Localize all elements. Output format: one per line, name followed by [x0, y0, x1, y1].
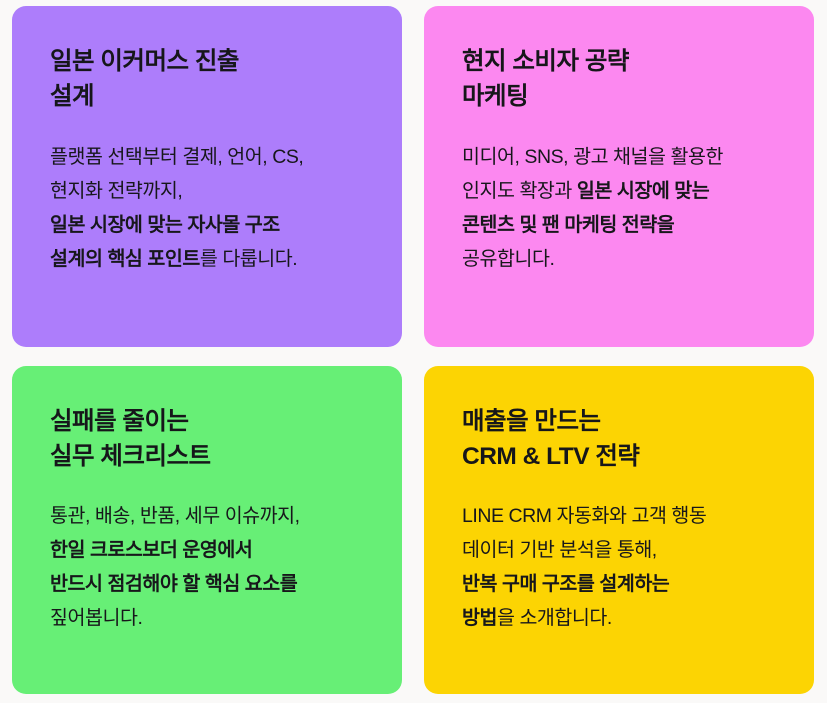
card-body-line: 설계의 핵심 포인트를 다룹니다.: [50, 242, 368, 276]
card-body-line: 인지도 확장과 일본 시장에 맞는: [462, 174, 780, 208]
card-title: 매출을 만드는 CRM & LTV 전략: [462, 404, 780, 474]
card-body-line: 일본 시장에 맞는 자사몰 구조: [50, 208, 368, 242]
card-title: 현지 소비자 공략 마케팅: [462, 44, 780, 114]
card-body-line: 통관, 배송, 반품, 세무 이슈까지,: [50, 499, 368, 533]
card-body: LINE CRM 자동화와 고객 행동데이터 기반 분석을 통해,반복 구매 구…: [462, 499, 780, 635]
card-body: 통관, 배송, 반품, 세무 이슈까지,한일 크로스보더 운영에서반드시 점검해…: [50, 499, 368, 635]
emphasis-text: 방법: [462, 607, 497, 629]
body-text: 짚어봅니다.: [50, 607, 142, 629]
card-body-line: 플랫폼 선택부터 결제, 언어, CS,: [50, 140, 368, 174]
card-body-line: 한일 크로스보더 운영에서: [50, 533, 368, 567]
card-body-line: LINE CRM 자동화와 고객 행동: [462, 499, 780, 533]
body-text: 공유합니다.: [462, 248, 554, 270]
card-body: 플랫폼 선택부터 결제, 언어, CS,현지화 전략까지,일본 시장에 맞는 자…: [50, 140, 368, 276]
body-text: 을 소개합니다.: [497, 607, 612, 629]
card-title: 일본 이커머스 진출 설계: [50, 44, 368, 114]
card-body-line: 현지화 전략까지,: [50, 174, 368, 208]
card-body-line: 반복 구매 구조를 설계하는: [462, 567, 780, 601]
body-text: 인지도 확장과: [462, 180, 577, 202]
body-text: 데이터 기반 분석을 통해,: [462, 539, 657, 561]
card-body-line: 데이터 기반 분석을 통해,: [462, 533, 780, 567]
emphasis-text: 한일 크로스보더 운영에서: [50, 539, 252, 561]
body-text: 플랫폼 선택부터 결제, 언어, CS,: [50, 146, 303, 168]
emphasis-text: 일본 시장에 맞는 자사몰 구조: [50, 214, 280, 236]
card-body-line: 방법을 소개합니다.: [462, 601, 780, 635]
feature-card-japan-ecommerce-entry-design[interactable]: 일본 이커머스 진출 설계 플랫폼 선택부터 결제, 언어, CS,현지화 전략…: [12, 6, 402, 347]
body-text: 미디어, SNS, 광고 채널을 활용한: [462, 146, 723, 168]
feature-card-grid: 일본 이커머스 진출 설계 플랫폼 선택부터 결제, 언어, CS,현지화 전략…: [0, 0, 827, 703]
feature-card-local-consumer-marketing[interactable]: 현지 소비자 공략 마케팅 미디어, SNS, 광고 채널을 활용한인지도 확장…: [424, 6, 814, 347]
emphasis-text: 반드시 점검해야 할 핵심 요소를: [50, 573, 297, 595]
emphasis-text: 콘텐츠 및 팬 마케팅 전략을: [462, 214, 674, 236]
emphasis-text: 반복 구매 구조를 설계하는: [462, 573, 669, 595]
body-text: 현지화 전략까지,: [50, 180, 182, 202]
card-body-line: 공유합니다.: [462, 242, 780, 276]
card-body-line: 콘텐츠 및 팬 마케팅 전략을: [462, 208, 780, 242]
card-body-line: 미디어, SNS, 광고 채널을 활용한: [462, 140, 780, 174]
card-body-line: 반드시 점검해야 할 핵심 요소를: [50, 567, 368, 601]
feature-card-crm-ltv-strategy[interactable]: 매출을 만드는 CRM & LTV 전략 LINE CRM 자동화와 고객 행동…: [424, 366, 814, 694]
body-text: LINE CRM 자동화와 고객 행동: [462, 505, 706, 527]
emphasis-text: 설계의 핵심 포인트: [50, 248, 200, 270]
card-title: 실패를 줄이는 실무 체크리스트: [50, 404, 368, 474]
card-body: 미디어, SNS, 광고 채널을 활용한인지도 확장과 일본 시장에 맞는콘텐츠…: [462, 140, 780, 276]
feature-card-practical-checklist[interactable]: 실패를 줄이는 실무 체크리스트 통관, 배송, 반품, 세무 이슈까지,한일 …: [12, 366, 402, 694]
body-text: 통관, 배송, 반품, 세무 이슈까지,: [50, 505, 300, 527]
emphasis-text: 일본 시장에 맞는: [577, 180, 709, 202]
card-body-line: 짚어봅니다.: [50, 601, 368, 635]
body-text: 를 다룹니다.: [200, 248, 297, 270]
